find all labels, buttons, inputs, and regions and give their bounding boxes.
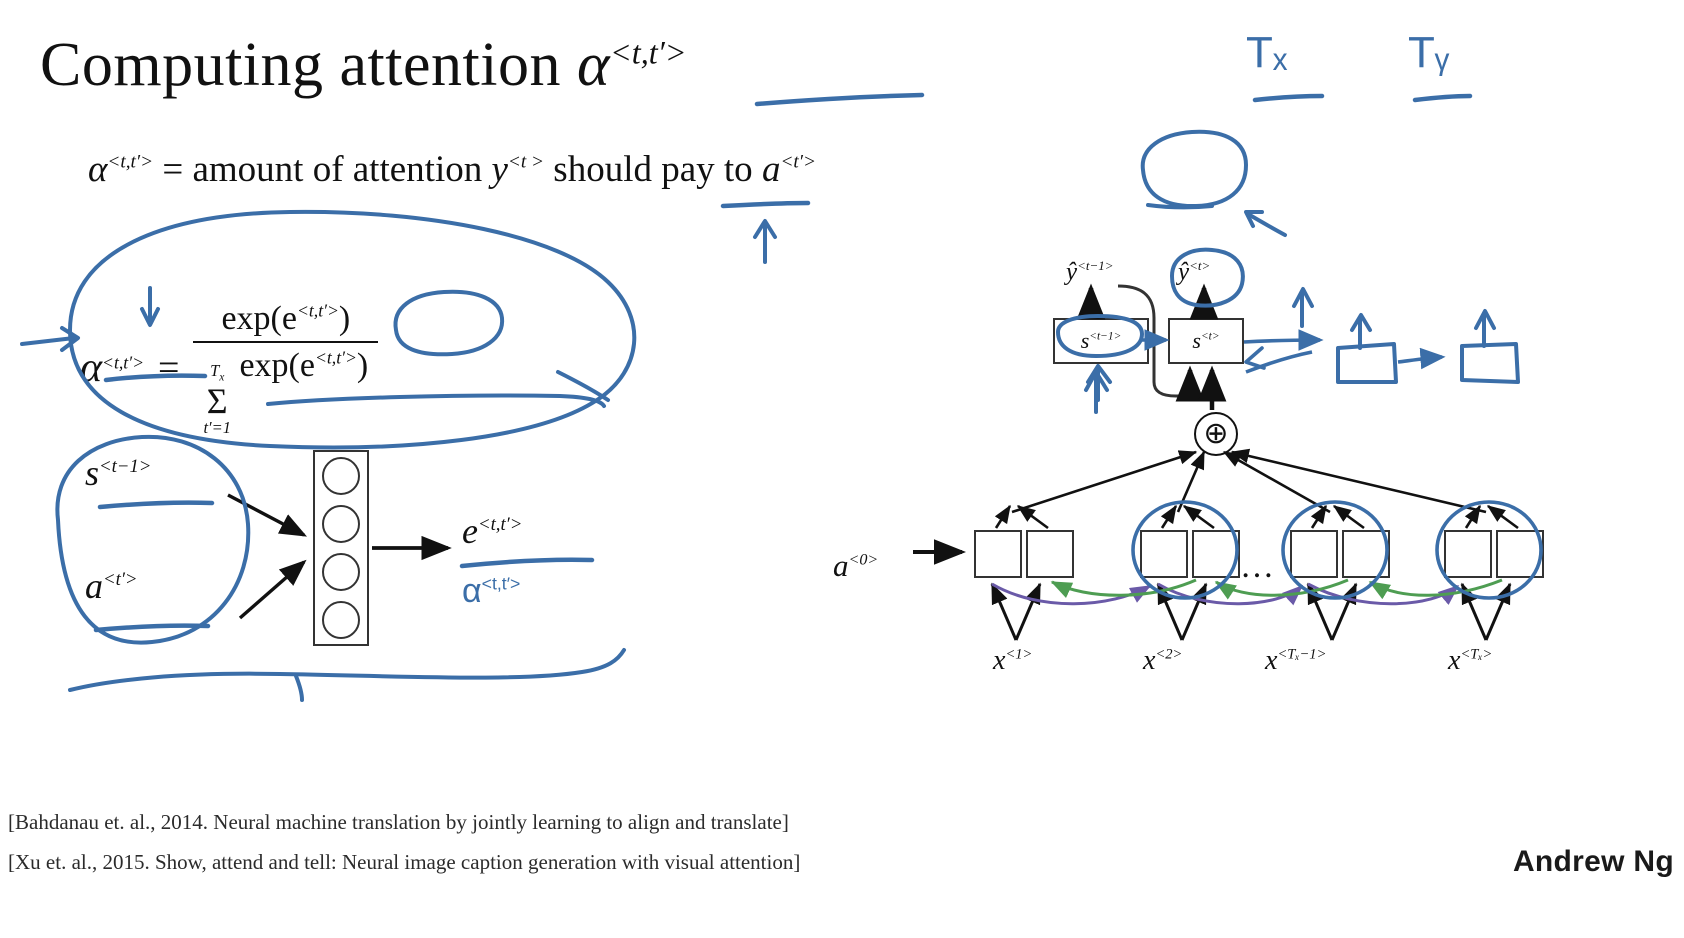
definition-y-symbol: y: [491, 149, 507, 190]
encoder-a0-label: a<0>: [833, 548, 878, 584]
denominator-close-paren: ): [357, 347, 368, 384]
citation-xu: [Xu et. al., 2015. Show, attend and tell…: [8, 850, 800, 875]
definition-a-superscript: <t′>: [780, 152, 816, 173]
plus-circle-icon: ⊕: [1203, 419, 1228, 449]
ffnn-output-label: e<t,t′>: [462, 510, 522, 552]
x2-superscript: <2>: [1155, 647, 1182, 663]
numerator-exp-text: exp(e: [221, 300, 297, 337]
definition-a-symbol: a: [762, 149, 781, 190]
encoder-ellipsis: …: [1240, 548, 1278, 586]
brnn-cell: [1496, 530, 1544, 578]
yhat-cur-superscript: <t>: [1189, 258, 1210, 273]
neuron-icon: [322, 457, 360, 495]
state-prev-superscript: <t−1>: [1089, 331, 1121, 343]
x-input-label: x<1>: [993, 645, 1032, 677]
denominator-exp-text: exp(e: [239, 347, 315, 384]
handwritten-alpha-superscript: <t,t′>: [482, 574, 521, 594]
xtx1-superscript: <Tₓ−1>: [1277, 647, 1326, 663]
a0-superscript: <0>: [849, 552, 879, 569]
definition-y-superscript: <t >: [508, 152, 544, 173]
attention-definition-line: α<t,t′> = amount of attention y<t > shou…: [88, 148, 816, 191]
formula-fraction: exp(e<t,t′>) Tx Σ t′=1 exp(e<t,t′>): [193, 300, 378, 436]
handwritten-ty-annotation: Tᵧ: [1408, 28, 1449, 78]
a0-symbol: a: [833, 548, 849, 583]
ffnn-input-state-symbol: s: [85, 453, 99, 493]
brnn-cell: [1444, 530, 1492, 578]
x2-symbol: x: [1143, 645, 1155, 676]
page-title-superscript: <t,t′>: [610, 34, 687, 70]
ffnn-output-superscript: <t,t′>: [478, 514, 522, 535]
decoder-yhat-prev-label: ŷ<t−1>: [1066, 258, 1114, 286]
yhat-prev-superscript: <t−1>: [1077, 258, 1113, 273]
neuron-icon: [322, 505, 360, 543]
brnn-cell: [1026, 530, 1074, 578]
formula-denominator: Tx Σ t′=1 exp(e<t,t′>): [193, 341, 378, 436]
decoder-state-cur-box: s<t>: [1168, 318, 1244, 364]
x1-superscript: <1>: [1005, 647, 1032, 663]
x1-symbol: x: [993, 645, 1005, 676]
neuron-icon: [322, 601, 360, 639]
brnn-cell: [1290, 530, 1338, 578]
citation-bahdanau: [Bahdanau et. al., 2014. Neural machine …: [8, 810, 789, 835]
decoder-state-prev-box: s<t−1>: [1053, 318, 1149, 364]
feedforward-network-box: [313, 450, 369, 646]
softmax-formula: α<t,t′> = exp(e<t,t′>) Tx Σ t′=1 exp(e<t…: [80, 300, 378, 436]
ffnn-output-symbol: e: [462, 511, 478, 551]
neuron-icon: [322, 553, 360, 591]
sum-upper-limit: T: [210, 361, 219, 380]
x-input-label: x<Tₓ−1>: [1265, 645, 1326, 677]
context-sum-node: ⊕: [1194, 412, 1238, 456]
page-title-text: Computing attention: [40, 31, 577, 99]
state-prev-symbol: s: [1081, 328, 1090, 353]
sum-lower-limit: t′=1: [203, 420, 230, 436]
page-title-symbol: α: [577, 31, 610, 99]
state-cur-label: s<t>: [1192, 328, 1219, 354]
diagram-overlay: [0, 0, 1684, 938]
ffnn-input-activation-superscript: <t′>: [103, 569, 138, 590]
definition-equals-text: = amount of attention: [162, 149, 491, 190]
page-title: Computing attention α<t,t′>: [40, 30, 687, 101]
ffnn-input-activation-symbol: a: [85, 566, 103, 606]
formula-equals-sign: =: [158, 346, 179, 390]
summation-operator: Tx Σ t′=1: [203, 363, 230, 436]
formula-numerator: exp(e<t,t′>): [211, 300, 360, 341]
state-cur-symbol: s: [1192, 328, 1201, 353]
ffnn-input-state-superscript: <t−1>: [99, 456, 151, 477]
handwritten-alpha-annotation: α<t,t′>: [462, 572, 520, 611]
x-input-label: x<Tₓ>: [1448, 645, 1492, 677]
formula-lhs-symbol: α: [80, 345, 102, 391]
brnn-cell: [1342, 530, 1390, 578]
xtx-superscript: <Tₓ>: [1460, 647, 1492, 663]
brnn-cell: [974, 530, 1022, 578]
author-credit: Andrew Ng: [1513, 845, 1674, 879]
handwritten-alpha-symbol: α: [462, 572, 482, 610]
yhat-prev-symbol: ŷ: [1066, 258, 1077, 285]
definition-mid-text: should pay to: [544, 149, 762, 190]
handwritten-tx-annotation: Tₓ: [1246, 28, 1287, 78]
sigma-icon: Σ: [207, 384, 228, 420]
xtx1-symbol: x: [1265, 645, 1277, 676]
state-prev-label: s<t−1>: [1081, 328, 1122, 354]
xtx-symbol: x: [1448, 645, 1460, 676]
decoder-yhat-cur-label: ŷ<t>: [1178, 258, 1210, 286]
numerator-close-paren: ): [339, 300, 350, 337]
brnn-cell: [1192, 530, 1240, 578]
definition-lhs-superscript: <t,t′>: [107, 152, 153, 173]
ffnn-input-activation-label: a<t′>: [85, 565, 138, 607]
formula-lhs-superscript: <t,t′>: [102, 353, 144, 373]
numerator-superscript: <t,t′>: [297, 301, 339, 321]
yhat-cur-symbol: ŷ: [1178, 258, 1189, 285]
definition-lhs-symbol: α: [88, 149, 107, 190]
denominator-superscript: <t,t′>: [315, 348, 357, 368]
brnn-cell: [1140, 530, 1188, 578]
state-cur-superscript: <t>: [1201, 331, 1220, 343]
ffnn-input-state-label: s<t−1>: [85, 452, 151, 494]
x-input-label: x<2>: [1143, 645, 1182, 677]
